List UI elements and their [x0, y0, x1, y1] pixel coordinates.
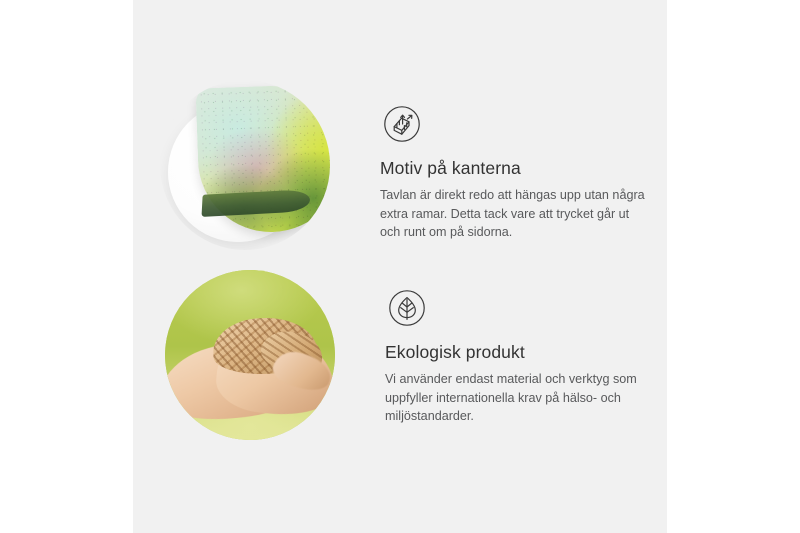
- feature-row-eco-product: Ekologisk produkt Vi använder endast mat…: [165, 270, 653, 440]
- feature-copy-eco-product: Ekologisk produkt Vi använder endast mat…: [385, 270, 653, 426]
- canvas-print-photo: [160, 80, 330, 250]
- feature-description: Tavlan är direkt redo att hängas upp uta…: [380, 186, 648, 242]
- canvas-wrapped-edges-icon: [380, 102, 424, 146]
- left-white-bar: [0, 0, 133, 533]
- feature-row-canvas-edges: Motiv på kanterna Tavlan är direkt redo …: [160, 80, 648, 250]
- feature-title: Motiv på kanterna: [380, 158, 648, 179]
- feature-copy-canvas-edges: Motiv på kanterna Tavlan är direkt redo …: [380, 80, 648, 242]
- feature-description: Vi använder endast material och verktyg …: [385, 370, 653, 426]
- wood-chips-in-hands-photo: [165, 270, 335, 440]
- right-white-bar: [667, 0, 800, 533]
- product-feature-banner: Motiv på kanterna Tavlan är direkt redo …: [0, 0, 800, 533]
- leaf-icon: [385, 286, 429, 330]
- feature-title: Ekologisk produkt: [385, 342, 653, 363]
